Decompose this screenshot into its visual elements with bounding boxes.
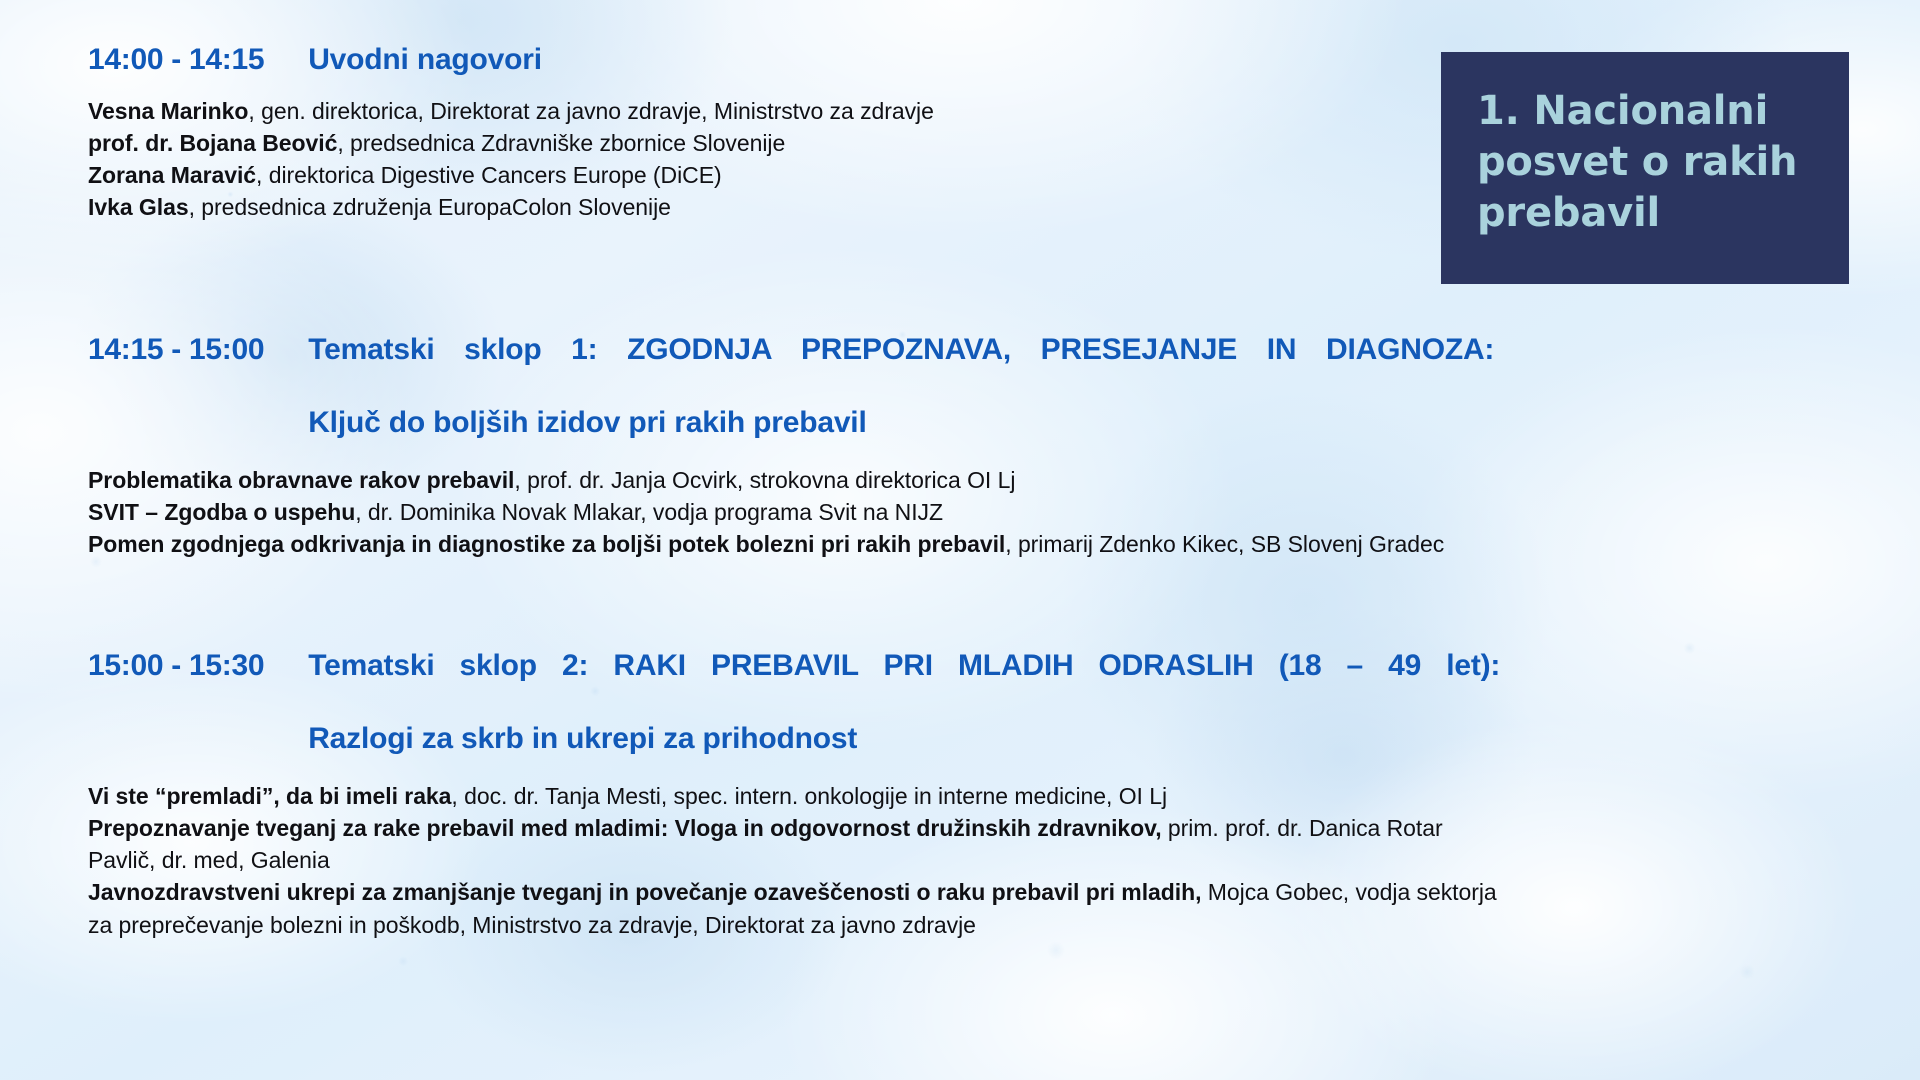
talk-title: Problematika obravnave rakov prebavil — [88, 467, 514, 493]
session-3-header: 15:00 - 15:30 Tematski sklop 2: RAKI PRE… — [88, 648, 1518, 758]
list-item: Vesna Marinko, gen. direktorica, Direkto… — [88, 95, 1408, 127]
list-item: SVIT – Zgodba o uspehu, dr. Dominika Nov… — [88, 496, 1503, 528]
session-3-title-line2: Razlogi za skrb in ukrepi za prihodnost — [308, 721, 1500, 758]
talk-title: Vi ste “premladi”, da bi imeli raka — [88, 783, 451, 809]
list-item: Ivka Glas, predsednica združenja EuropaC… — [88, 191, 1408, 223]
talk-title: Pomen zgodnjega odkrivanja in diagnostik… — [88, 531, 1005, 557]
speaker-detail: , predsednica Zdravniške zbornice Sloven… — [337, 130, 785, 156]
session-1-time: 14:00 - 14:15 — [88, 42, 264, 79]
list-item: Vi ste “premladi”, da bi imeli raka, doc… — [88, 780, 1508, 812]
speaker-name: Vesna Marinko — [88, 98, 248, 124]
speaker-detail: , predsednica združenja EuropaColon Slov… — [189, 194, 671, 220]
session-3-time: 15:00 - 15:30 — [88, 648, 264, 685]
session-2-entries: Problematika obravnave rakov prebavil, p… — [88, 464, 1503, 561]
list-item: Prepoznavanje tveganj za rake prebavil m… — [88, 812, 1508, 876]
session-2-time: 14:15 - 15:00 — [88, 332, 264, 369]
talk-detail: , dr. Dominika Novak Mlakar, vodja progr… — [355, 499, 943, 525]
agenda-session-3: 15:00 - 15:30 Tematski sklop 2: RAKI PRE… — [88, 648, 1518, 941]
talk-detail: , doc. dr. Tanja Mesti, spec. intern. on… — [451, 783, 1167, 809]
talk-detail: , prof. dr. Janja Ocvirk, strokovna dire… — [514, 467, 1015, 493]
speaker-name: prof. dr. Bojana Beović — [88, 130, 337, 156]
session-1-header: 14:00 - 14:15 Uvodni nagovori — [88, 42, 1418, 79]
list-item: Javnozdravstveni ukrepi za zmanjšanje tv… — [88, 876, 1508, 940]
session-3-title-line1: Tematski sklop 2: RAKI PREBAVIL PRI MLAD… — [308, 648, 1500, 721]
speaker-name: Ivka Glas — [88, 194, 189, 220]
session-2-title-line1: Tematski sklop 1: ZGODNJA PREPOZNAVA, PR… — [308, 332, 1494, 405]
session-2-title: Tematski sklop 1: ZGODNJA PREPOZNAVA, PR… — [308, 332, 1494, 442]
list-item: prof. dr. Bojana Beović, predsednica Zdr… — [88, 127, 1408, 159]
speaker-name: Zorana Maravić — [88, 162, 256, 188]
agenda-session-2: 14:15 - 15:00 Tematski sklop 1: ZGODNJA … — [88, 332, 1508, 560]
session-2-title-line2: Ključ do boljših izidov pri rakih prebav… — [308, 405, 1494, 442]
speaker-detail: , gen. direktorica, Direktorat za javno … — [248, 98, 933, 124]
list-item: Zorana Maravić, direktorica Digestive Ca… — [88, 159, 1408, 191]
talk-title: SVIT – Zgodba o uspehu — [88, 499, 355, 525]
event-title-text: 1. Nacionalni posvet o rakih prebavil — [1477, 86, 1815, 240]
talk-title: Javnozdravstveni ukrepi za zmanjšanje tv… — [88, 879, 1201, 905]
list-item: Problematika obravnave rakov prebavil, p… — [88, 464, 1503, 496]
speaker-detail: , direktorica Digestive Cancers Europe (… — [256, 162, 722, 188]
event-title-badge: 1. Nacionalni posvet o rakih prebavil — [1441, 52, 1849, 284]
talk-detail: , primarij Zdenko Kikec, SB Slovenj Grad… — [1005, 531, 1444, 557]
session-2-header: 14:15 - 15:00 Tematski sklop 1: ZGODNJA … — [88, 332, 1508, 442]
session-1-title: Uvodni nagovori — [308, 42, 1308, 79]
list-item: Pomen zgodnjega odkrivanja in diagnostik… — [88, 528, 1503, 560]
session-3-title: Tematski sklop 2: RAKI PREBAVIL PRI MLAD… — [308, 648, 1500, 758]
agenda-session-1: 14:00 - 14:15 Uvodni nagovori Vesna Mari… — [88, 42, 1418, 223]
session-1-entries: Vesna Marinko, gen. direktorica, Direkto… — [88, 95, 1408, 224]
session-3-entries: Vi ste “premladi”, da bi imeli raka, doc… — [88, 780, 1508, 941]
talk-title: Prepoznavanje tveganj za rake prebavil m… — [88, 815, 1162, 841]
session-1-title-line1: Uvodni nagovori — [308, 42, 1308, 79]
